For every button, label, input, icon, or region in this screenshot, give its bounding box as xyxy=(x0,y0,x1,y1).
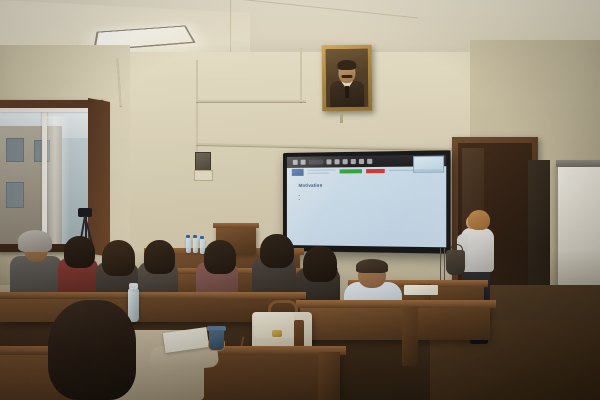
slide-body xyxy=(299,193,438,202)
window-reveal xyxy=(88,98,110,257)
app-logo-icon xyxy=(292,169,304,176)
coffee-cup xyxy=(209,330,224,350)
portrait-canvas xyxy=(326,49,369,107)
more-icon[interactable] xyxy=(367,159,372,164)
bench-end-panel xyxy=(402,306,418,366)
bench-end-panel xyxy=(318,352,340,400)
outside-window xyxy=(6,182,24,208)
bench-row xyxy=(300,306,490,340)
presenter-hair xyxy=(468,210,490,230)
ceiling-seam xyxy=(230,0,231,58)
camera-icon[interactable] xyxy=(293,160,298,165)
ribbon-line xyxy=(389,169,442,171)
window-light-streak xyxy=(40,116,70,244)
tracked-deletion-marker xyxy=(366,169,385,173)
bullet-text-lines xyxy=(302,197,438,200)
slide-bullet xyxy=(299,197,438,200)
attendee-hair xyxy=(356,259,388,273)
handbag-clasp-icon xyxy=(272,330,282,337)
attendee-hair xyxy=(48,300,136,400)
presentation-display[interactable]: Motivation xyxy=(283,150,451,253)
presenter-handbag xyxy=(446,250,465,275)
attendee-hair xyxy=(144,240,175,274)
bullet-dot-icon xyxy=(299,199,300,200)
water-bottle xyxy=(193,238,198,253)
attendee-hair xyxy=(303,246,337,282)
attendee-hair xyxy=(102,240,135,276)
wall-outlet-plate xyxy=(194,170,213,181)
bottle-cap xyxy=(193,235,197,238)
bullet-text-lines xyxy=(302,193,438,196)
bottle-cap xyxy=(200,236,204,239)
pen-icon[interactable] xyxy=(351,159,356,164)
window-mullion xyxy=(0,108,92,112)
conduit-pipe xyxy=(196,60,198,155)
framed-portrait xyxy=(322,45,373,112)
portrait-hanging-hook xyxy=(340,114,343,123)
water-bottle xyxy=(128,288,139,322)
microphone-icon[interactable] xyxy=(301,160,306,165)
grid-icon[interactable] xyxy=(359,159,364,164)
tracked-insertion-marker xyxy=(340,169,362,173)
window-glass xyxy=(0,108,92,244)
document-ribbon xyxy=(290,167,446,176)
bullet-dot-icon xyxy=(299,195,300,196)
lectern-top xyxy=(213,223,259,228)
attendee-hair xyxy=(260,234,294,268)
conduit-pipe xyxy=(196,100,306,102)
slide-title: Motivation xyxy=(299,183,323,188)
bottle-cap xyxy=(186,235,190,238)
lecture-hall-photo: Motivation xyxy=(0,0,600,400)
participants-icon[interactable] xyxy=(326,159,331,164)
flipchart-clamp xyxy=(556,160,600,167)
ribbon-line xyxy=(308,169,336,170)
portrait-tie xyxy=(345,86,349,98)
share-screen-icon[interactable] xyxy=(343,159,348,164)
outside-window xyxy=(6,138,24,162)
ribbon-line xyxy=(308,173,330,174)
wall-junction-box xyxy=(195,152,211,172)
display-screen[interactable]: Motivation xyxy=(287,155,446,248)
portrait-hair xyxy=(337,60,356,70)
attendee-hair xyxy=(64,236,95,268)
bench-top xyxy=(0,292,306,299)
portrait-mustache xyxy=(341,75,352,78)
conduit-pipe xyxy=(300,48,302,102)
bench-top xyxy=(296,300,496,308)
papers-on-desk xyxy=(404,285,438,295)
record-icon[interactable] xyxy=(309,159,324,164)
chat-icon[interactable] xyxy=(335,159,340,164)
attendee-hair xyxy=(18,230,52,252)
attendee-hair xyxy=(204,240,236,274)
water-bottle xyxy=(186,238,191,253)
slide-bullet xyxy=(299,193,438,196)
